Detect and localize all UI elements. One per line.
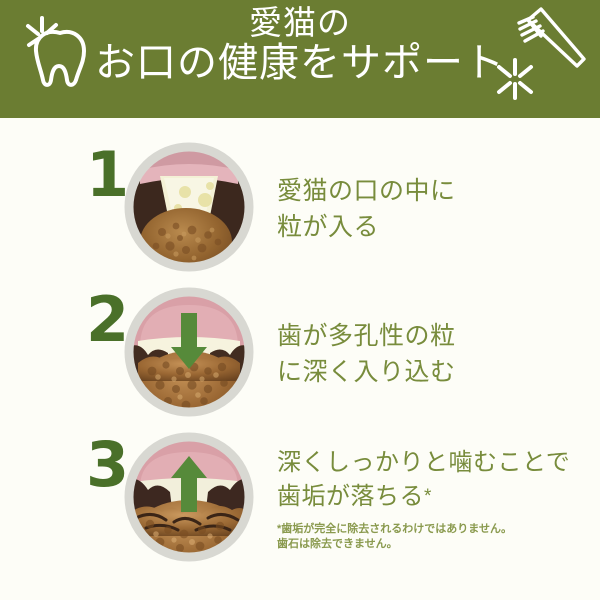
step-text-line: 歯垢が落ちる bbox=[277, 483, 424, 510]
header-banner: 愛猫の お口の健康をサポート bbox=[0, 0, 600, 118]
step-description: 深くしっかりと噛むことで 歯垢が落ちる* *歯垢が完全に除去されるわけではありま… bbox=[277, 445, 570, 551]
step-description: 愛猫の口の中に 粒が入る bbox=[277, 172, 456, 245]
steps-list: 1 bbox=[0, 118, 600, 571]
step-text-line-with-asterisk: 歯垢が落ちる* bbox=[277, 480, 570, 515]
step-text-line: 粒が入る bbox=[277, 209, 456, 245]
step-number: 2 bbox=[86, 289, 129, 351]
step-illustration-1 bbox=[122, 140, 256, 274]
step-description: 歯が多孔性の粒 に深く入り込む bbox=[277, 317, 456, 390]
step-item: 1 bbox=[0, 136, 600, 281]
step-text-line: 歯が多孔性の粒 bbox=[277, 317, 456, 353]
step-number: 1 bbox=[86, 144, 129, 206]
sparkle-icon bbox=[492, 56, 538, 107]
footnote-line: 歯石は除去できません。 bbox=[277, 537, 570, 552]
footnote: *歯垢が完全に除去されるわけではありません。 歯石は除去できません。 bbox=[277, 522, 570, 552]
step-illustration-2 bbox=[122, 285, 256, 419]
step-number: 3 bbox=[86, 434, 129, 496]
step-illustration-3 bbox=[122, 430, 256, 564]
step-item: 2 bbox=[0, 281, 600, 426]
step-item: 3 bbox=[0, 426, 600, 571]
asterisk-mark: * bbox=[424, 486, 432, 507]
infographic-root: 愛猫の お口の健康をサポート bbox=[0, 0, 600, 600]
step-text-line: 深くしっかりと噛むことで bbox=[277, 445, 570, 480]
step-text-line: 愛猫の口の中に bbox=[277, 172, 456, 208]
step-text-line: に深く入り込む bbox=[277, 354, 456, 390]
footnote-line: *歯垢が完全に除去されるわけではありません。 bbox=[277, 522, 570, 537]
